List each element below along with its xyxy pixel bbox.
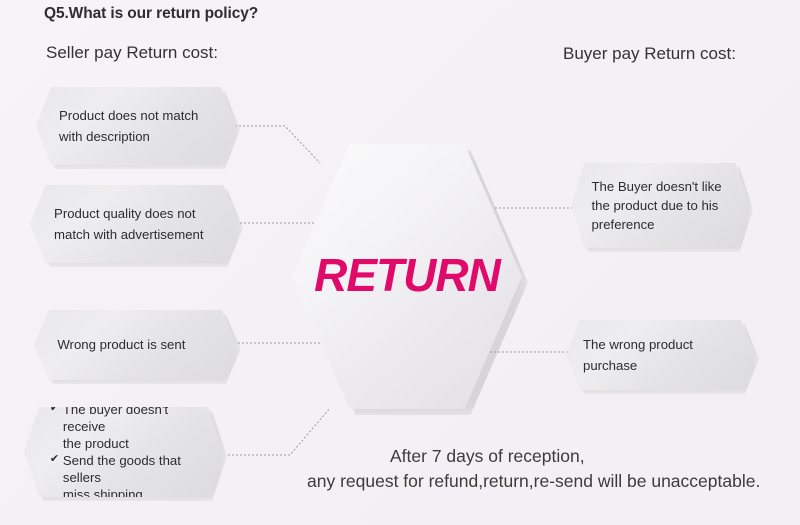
buyer-reason-card-1-text: The Buyer doesn't like the product due t… <box>571 177 738 234</box>
checklist-item: ✔ Send the goods that sellers miss shipp… <box>50 452 205 503</box>
seller-checklist-card[interactable]: ✔ The buyer doesn't receive the product … <box>24 407 223 497</box>
buyer-reason-card-1[interactable]: The Buyer doesn't like the product due t… <box>571 163 749 248</box>
check-icon: ✔ <box>50 452 60 503</box>
footnote-line-2: any request for refund,return,re-send wi… <box>307 471 760 492</box>
footnote-line-1: After 7 days of reception, <box>390 446 585 467</box>
return-label: RETURN <box>314 248 500 302</box>
infographic-canvas: Q5.What is our return policy? Seller pay… <box>0 0 800 525</box>
seller-reason-card-3[interactable]: Wrong product is sent <box>34 310 237 380</box>
buyer-reason-card-2[interactable]: The wrong product purchase <box>566 320 755 390</box>
seller-checklist-text: ✔ The buyer doesn't receive the product … <box>24 401 223 504</box>
connector-seller-1 <box>235 126 320 163</box>
connector-seller-4 <box>228 408 330 455</box>
seller-reason-card-2[interactable]: Product quality does not match with adve… <box>30 185 239 263</box>
checklist-item: ✔ The buyer doesn't receive the product <box>50 401 205 452</box>
buyer-reason-card-2-text: The wrong product purchase <box>566 334 755 377</box>
seller-reason-card-1[interactable]: Product does not match with description <box>36 87 236 165</box>
seller-reason-card-1-text: Product does not match with description <box>36 105 216 148</box>
seller-reason-card-2-text: Product quality does not match with adve… <box>30 203 222 246</box>
check-icon: ✔ <box>50 401 60 452</box>
seller-reason-card-3-text: Wrong product is sent <box>34 334 204 355</box>
